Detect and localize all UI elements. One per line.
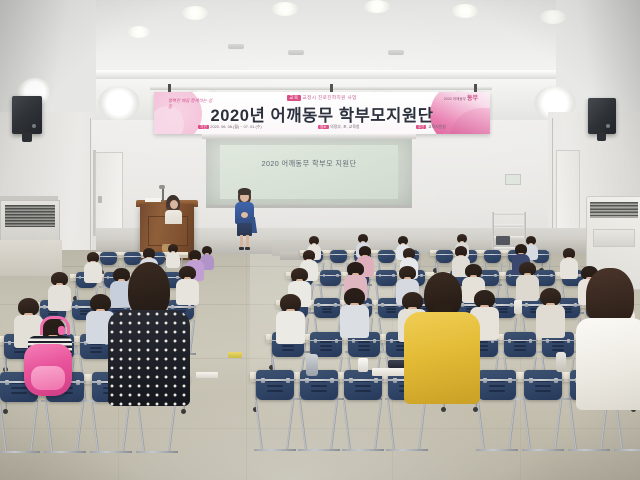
chair-bar-knob	[554, 378, 558, 383]
chair-leg	[508, 400, 516, 451]
chair-foot-rail	[44, 451, 86, 453]
chair-back-slot	[535, 385, 550, 387]
chair-bar-knob	[374, 378, 378, 383]
chair-leg	[45, 402, 53, 453]
audience-member-torso	[536, 305, 565, 338]
chair-bar-knob	[550, 274, 552, 277]
chair-back-slot	[386, 311, 396, 313]
chair-back	[320, 270, 341, 286]
chair-foot-rail	[136, 451, 178, 453]
chair-bar-knob	[261, 378, 265, 383]
chair-back-slot	[498, 308, 508, 310]
chair-foot-rail	[0, 451, 40, 453]
chair-leg	[76, 402, 84, 453]
chair-bar-knob	[349, 378, 353, 383]
woman-in-yellow-top	[404, 272, 480, 432]
chair-back-slot	[311, 385, 326, 387]
chair-bar-knob	[390, 339, 394, 343]
chair-back	[478, 370, 516, 400]
chair-back-slot	[320, 349, 333, 351]
chair-back	[484, 250, 501, 263]
chair-bar-knob	[529, 378, 533, 383]
chair[interactable]	[344, 370, 382, 457]
chair-back	[524, 370, 562, 400]
seminar-room-photo: 행복한 배움 함께하는 성장 2020 어깨동무 동무 교육교정시 진로진학지원…	[0, 0, 640, 480]
woman-in-white-top	[576, 268, 640, 428]
chair-bar-knob	[494, 274, 496, 277]
chair-back-slot	[386, 308, 396, 310]
chair-back-slot	[320, 345, 333, 347]
water-bottle	[556, 352, 566, 372]
chair-back-slot	[489, 390, 504, 392]
white-blouse	[576, 318, 640, 410]
chair-foot-rail	[614, 449, 640, 451]
small-cup	[514, 300, 522, 314]
chair-back	[436, 250, 453, 263]
chair-leg	[30, 402, 38, 453]
notebook	[196, 372, 218, 378]
chair-leg	[255, 400, 263, 451]
audience-member-torso	[340, 305, 369, 338]
chair[interactable]	[478, 370, 516, 457]
yellow-sticky-note	[228, 352, 242, 358]
chair-bar-knob	[529, 339, 533, 343]
audience-member-torso	[84, 262, 102, 283]
chair[interactable]	[524, 370, 562, 457]
chair-bar-knob	[508, 378, 512, 383]
polka-dot-dress	[108, 310, 190, 406]
chair-bar-knob	[314, 339, 318, 343]
chair-bar-knob	[79, 276, 81, 279]
chair-leg	[343, 400, 351, 451]
chair-bar-knob	[336, 274, 338, 277]
chair-bar-knob	[567, 339, 571, 343]
chair-bar-knob	[323, 274, 325, 277]
chair-leg	[554, 400, 562, 451]
chair-back-slot	[535, 390, 550, 392]
chair-bar-knob	[381, 303, 384, 306]
woman-in-polka-dot-dress	[108, 262, 190, 432]
chair-leg	[523, 400, 531, 451]
chair-back	[378, 250, 395, 263]
chair-back-slot	[322, 308, 332, 310]
handout-papers	[372, 368, 406, 376]
chair-bar-knob	[483, 378, 487, 383]
chair-bar-knob	[392, 274, 394, 277]
yellow-blouse	[404, 312, 480, 404]
chair-leg	[374, 400, 382, 451]
chair-leg	[0, 402, 7, 453]
chair-back-slot	[498, 311, 508, 313]
chair-back	[376, 270, 397, 286]
chair-leg	[286, 400, 294, 451]
chair-bar-knob	[334, 303, 337, 306]
audience-member	[536, 288, 565, 349]
tumbler-bottle	[306, 354, 318, 376]
chair-back-slot	[311, 390, 326, 392]
chair-bar-knob	[330, 378, 334, 383]
chair-bar-knob	[373, 339, 377, 343]
chair-back-slot	[267, 390, 282, 392]
chair-bar-knob	[8, 341, 12, 345]
chair-back-slot	[514, 349, 527, 351]
chair-bar-knob	[76, 380, 80, 385]
chair-back-slot	[355, 385, 370, 387]
chair-bar-knob	[317, 303, 320, 306]
chair-foot-rail	[386, 449, 428, 451]
chair-back-slot	[267, 385, 282, 387]
chair-foot-rail	[298, 449, 340, 451]
chair-back-slot	[355, 390, 370, 392]
chair[interactable]	[256, 370, 294, 457]
chair[interactable]	[300, 370, 338, 457]
chair-back	[314, 298, 340, 318]
chair-back	[256, 370, 294, 400]
chair-bar-knob	[509, 274, 511, 277]
audience-member	[84, 252, 102, 290]
chair-leg	[387, 400, 395, 451]
chair-foot-rail	[254, 449, 296, 451]
audience-member-torso	[276, 311, 305, 344]
chair-bar-knob	[286, 378, 290, 383]
backpack-pocket	[31, 366, 65, 390]
chair-bar-knob	[97, 380, 101, 385]
chair-foot-rail	[342, 449, 384, 451]
chair-back-slot	[322, 311, 332, 313]
chair-leg	[91, 402, 99, 453]
chair-back	[504, 332, 536, 357]
audience-seating	[0, 0, 640, 480]
chair-foot-rail	[476, 449, 518, 451]
chair-bar-knob	[393, 378, 397, 383]
chair-foot-rail	[568, 449, 610, 451]
chair-bar-knob	[379, 274, 381, 277]
chair-back-slot	[489, 385, 504, 387]
chair-foot-rail	[522, 449, 564, 451]
headphone-cup	[58, 326, 65, 335]
chair-bar-knob	[510, 303, 513, 306]
chair-bar-knob	[305, 378, 309, 383]
chair-bar-knob	[43, 305, 46, 308]
chair-bar-knob	[335, 339, 339, 343]
audience-member-torso	[48, 285, 71, 311]
chair-back-slot	[11, 392, 26, 394]
paper-cup	[358, 358, 368, 372]
pink-headphones-icon	[40, 316, 70, 335]
chair-bar-knob	[5, 380, 9, 385]
chair-leg	[299, 400, 307, 451]
audience-member	[48, 272, 71, 320]
chair-leg	[330, 400, 338, 451]
chair-back-slot	[514, 345, 527, 347]
audience-member	[276, 294, 305, 355]
chair-back-slot	[11, 387, 26, 389]
chair-bar-knob	[75, 305, 78, 308]
audience-member	[340, 288, 369, 349]
chair-bar-knob	[508, 339, 512, 343]
chair-foot-rail	[90, 451, 132, 453]
